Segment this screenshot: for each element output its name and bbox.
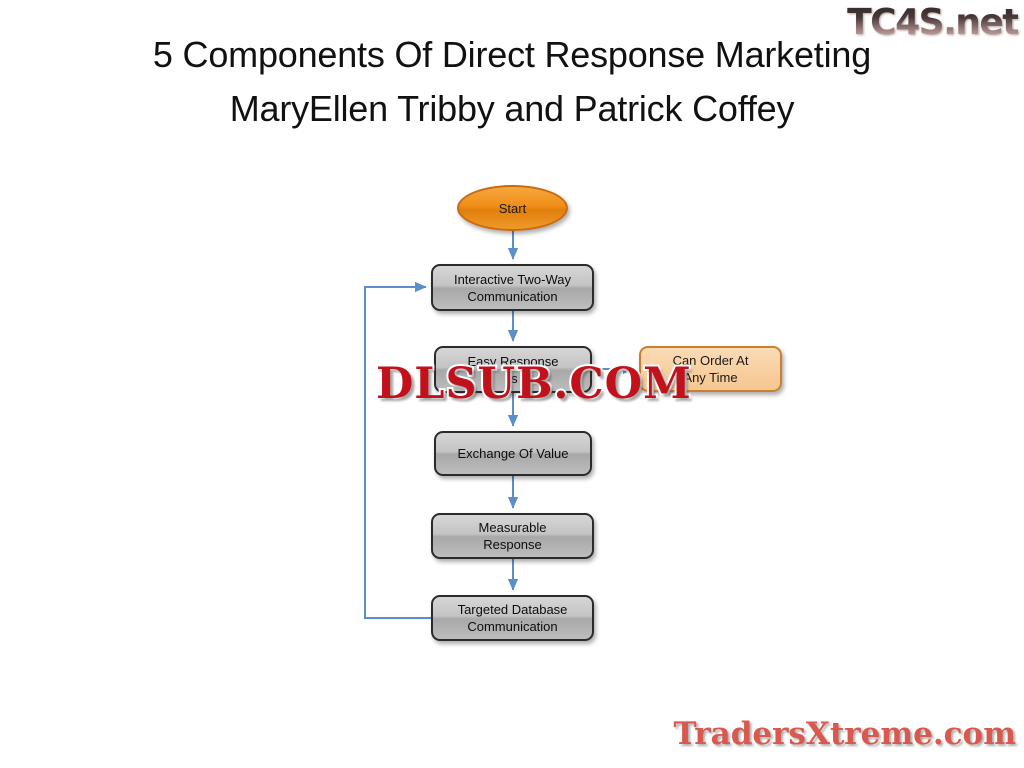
node-line-1: Easy Response	[467, 354, 558, 369]
node-can-order-at-any-time[interactable]: Can Order At Any Time	[639, 346, 782, 392]
node-line-2: Response	[483, 537, 542, 552]
node-line-2: Communication	[467, 289, 557, 304]
flowchart-diagram: Start Interactive Two-Way Communication …	[0, 0, 1024, 768]
node-measurable-response-label: Measurable Response	[473, 519, 553, 553]
node-line-1: Targeted Database	[458, 602, 568, 617]
node-line-2: Any Time	[683, 370, 737, 385]
node-targeted-database-communication-label: Targeted Database Communication	[452, 601, 574, 635]
node-line-1: Interactive Two-Way	[454, 272, 571, 287]
node-easy-response[interactable]: Easy Response is	[434, 346, 592, 393]
node-exchange-of-value-label: Exchange Of Value	[451, 445, 574, 462]
edge-targeted-to-interactive-feedback	[365, 287, 431, 618]
node-line-1: Measurable	[479, 520, 547, 535]
node-interactive-two-way-communication[interactable]: Interactive Two-Way Communication	[431, 264, 594, 311]
node-easy-response-label: Easy Response is	[461, 353, 564, 387]
node-can-order-at-any-time-label: Can Order At Any Time	[667, 352, 755, 386]
node-targeted-database-communication[interactable]: Targeted Database Communication	[431, 595, 594, 641]
node-start[interactable]: Start	[457, 185, 568, 231]
node-line-2: Communication	[467, 619, 557, 634]
node-interactive-two-way-communication-label: Interactive Two-Way Communication	[448, 271, 577, 305]
node-line-1: Can Order At	[673, 353, 749, 368]
node-start-label: Start	[493, 200, 532, 217]
node-line-2: is	[508, 371, 517, 386]
node-exchange-of-value[interactable]: Exchange Of Value	[434, 431, 592, 476]
node-measurable-response[interactable]: Measurable Response	[431, 513, 594, 559]
